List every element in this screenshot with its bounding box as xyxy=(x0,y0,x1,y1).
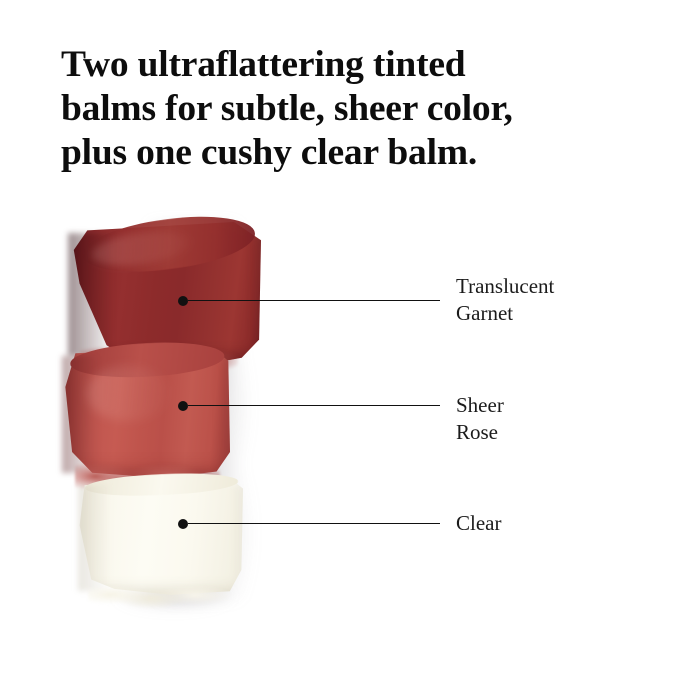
balm-swatch-clear-left-shade xyxy=(78,485,111,591)
balm-swatch-garnet xyxy=(68,222,261,362)
headline-line-1: Two ultraflattering tinted xyxy=(61,43,621,87)
callout-label-garnet: Translucent Garnet xyxy=(456,273,554,327)
callout-leader-line-garnet xyxy=(188,300,440,301)
callout-leader-line-rose xyxy=(188,405,440,406)
balm-swatch-clear-crumble xyxy=(88,585,233,609)
balm-swatch-garnet-left-shade xyxy=(68,233,114,356)
callout-label-rose: Sheer Rose xyxy=(456,392,504,446)
product-photo xyxy=(0,200,330,630)
callout-dot-icon-rose xyxy=(178,401,188,411)
callout-dot-icon-garnet xyxy=(178,296,188,306)
headline-line-2: balms for subtle, sheer color, xyxy=(61,87,621,131)
balm-swatch-rose-left-shade xyxy=(62,356,99,473)
balm-swatch-rose xyxy=(62,348,230,478)
headline-line-3: plus one cushy clear balm. xyxy=(61,131,621,175)
callout-dot-icon-clear xyxy=(178,519,188,529)
page-title: Two ultraflattering tinted balms for sub… xyxy=(61,43,621,175)
callout-label-clear: Clear xyxy=(456,510,501,537)
callout-leader-line-clear xyxy=(188,523,440,524)
balm-swatch-clear xyxy=(78,478,243,596)
product-callout-page: Two ultraflattering tinted balms for sub… xyxy=(0,0,679,679)
